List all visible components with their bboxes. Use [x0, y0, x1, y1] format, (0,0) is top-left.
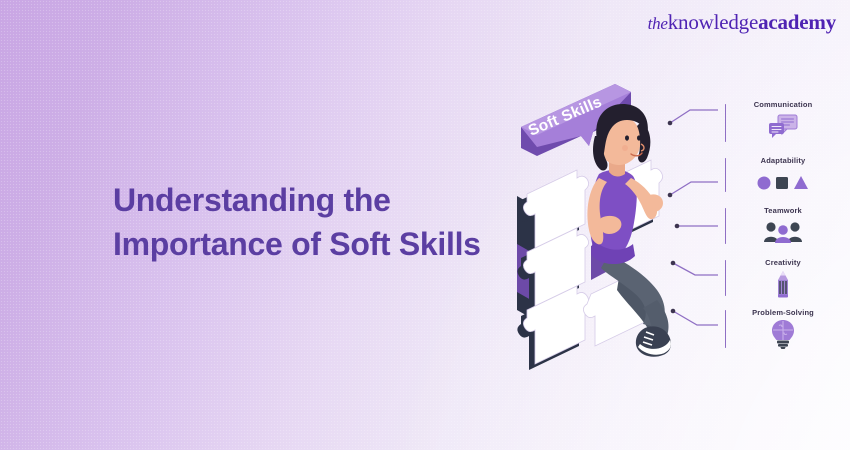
logo-word-the: the — [648, 14, 668, 33]
headline-line-1: Understanding the — [113, 178, 481, 222]
tick-bar-adaptability — [725, 158, 726, 192]
skill-label: Problem-Solving — [752, 308, 814, 317]
skill-item-communication[interactable]: Communication — [728, 100, 838, 140]
tick-bar-creativity — [725, 260, 726, 296]
skill-item-adaptability[interactable]: Adaptability — [728, 156, 838, 196]
skill-item-problem-solving[interactable]: Problem-Solving — [728, 308, 838, 348]
tick-bar-communication — [725, 104, 726, 142]
skill-label: Creativity — [765, 258, 801, 267]
skill-item-creativity[interactable]: Creativity — [728, 258, 838, 298]
headline-line-2: Importance of Soft Skills — [113, 222, 481, 266]
skill-item-teamwork[interactable]: Teamwork — [728, 206, 838, 246]
tick-bar-problem-solving — [725, 310, 726, 348]
logo-word-academy: academy — [758, 10, 836, 34]
connector-dots — [668, 121, 680, 314]
skills-list: Communication Adaptability — [700, 100, 850, 362]
shape-triangle — [794, 176, 808, 189]
logo-word-knowledge: knowledge — [668, 10, 758, 34]
skill-label: Communication — [754, 100, 813, 109]
chat-bubbles-icon — [768, 112, 798, 140]
skill-label: Teamwork — [764, 206, 802, 215]
people-group-icon — [763, 218, 803, 246]
brand-logo[interactable]: theknowledgeacademy — [648, 10, 836, 35]
shapes-icon — [757, 168, 809, 196]
skill-label: Adaptability — [761, 156, 806, 165]
page-title: Understanding the Importance of Soft Ski… — [113, 178, 481, 266]
tick-bar-teamwork — [725, 208, 726, 244]
shape-circle — [758, 177, 771, 190]
shape-square — [776, 177, 788, 189]
banner-root: theknowledgeacademy Understanding the Im… — [0, 0, 850, 450]
lightbulb-puzzle-icon — [771, 320, 795, 348]
pencil-icon — [774, 270, 792, 298]
